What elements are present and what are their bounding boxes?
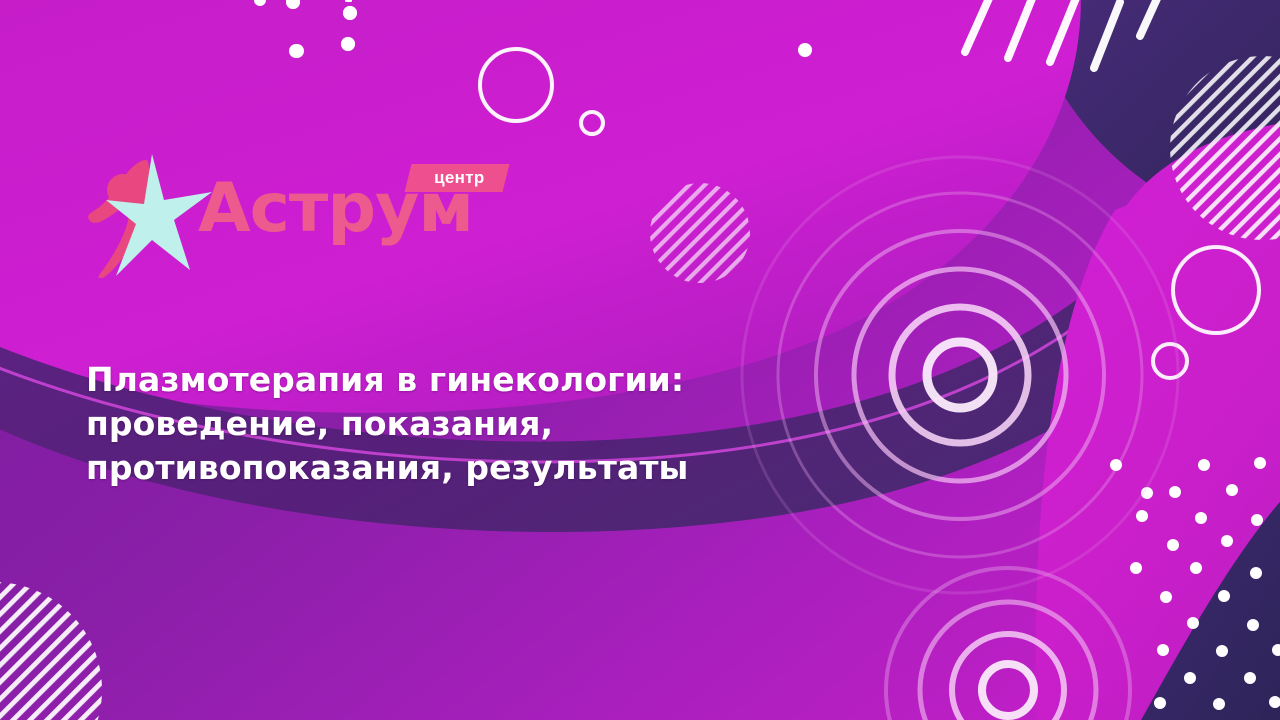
brand-badge: центр <box>405 164 510 192</box>
title-line-3: противопоказания, результаты <box>86 446 806 490</box>
brand-badge-label: центр <box>434 169 484 186</box>
title-card: Аструм центр Плазмотерапия в гинекологии… <box>0 0 1280 720</box>
page-title: Плазмотерапия в гинекологии: проведение,… <box>86 358 806 490</box>
title-line-2: проведение, показания, <box>86 402 806 446</box>
brand-logo[interactable]: Аструм центр <box>86 148 556 278</box>
title-line-1: Плазмотерапия в гинекологии: <box>86 358 806 402</box>
star-person-logo-icon <box>86 148 214 278</box>
